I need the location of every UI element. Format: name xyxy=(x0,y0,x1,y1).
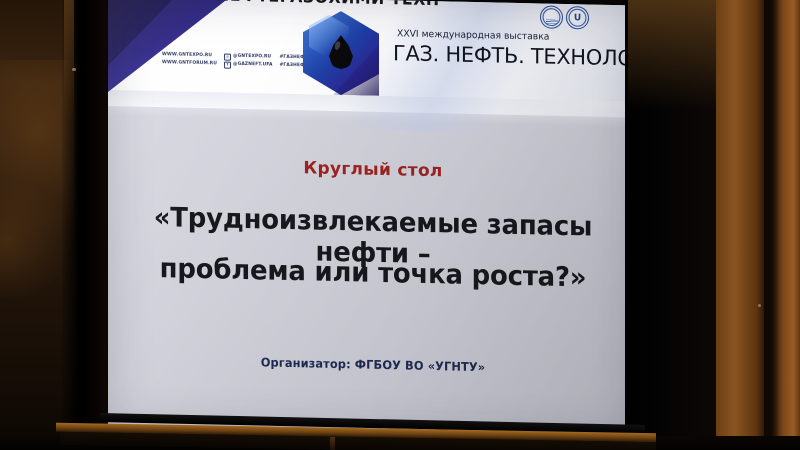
certification-seal-left xyxy=(540,5,563,29)
left-wall-glow xyxy=(0,180,70,300)
conference-room-scene: НЕФТЕГАЗОХИМИ ТЕХН WWW.GNTEXPO.RU WWW.GN… xyxy=(0,0,800,450)
right-dark-wall-highlight xyxy=(628,0,718,110)
wall-screw xyxy=(758,304,761,307)
certification-seal-right: U xyxy=(566,6,589,30)
left-pillar-highlight xyxy=(64,0,74,300)
instagram-icon: ◎ xyxy=(224,53,231,60)
seal-left-lines xyxy=(546,20,558,24)
social-row-2: f @GAZNEFT.UFA xyxy=(224,61,273,70)
website-2: WWW.GNTFORUM.RU xyxy=(162,59,217,68)
oil-drop-hexagon-icon xyxy=(303,10,379,96)
wall-speck xyxy=(72,68,76,71)
projection-screen: НЕФТЕГАЗОХИМИ ТЕХН WWW.GNTEXPO.RU WWW.GN… xyxy=(108,0,638,442)
screen-stand xyxy=(330,437,335,450)
website-row-2: WWW.GNTFORUM.RU xyxy=(162,59,217,68)
contact-social: ◎ @GNTEXPO.RU f @GAZNEFT.UFA xyxy=(224,53,273,70)
seal-right-mark: U xyxy=(574,13,581,23)
slide-canvas: НЕФТЕГАЗОХИМИ ТЕХН WWW.GNTEXPO.RU WWW.GN… xyxy=(108,0,638,442)
social-handle-2: @GAZNEFT.UFA xyxy=(233,61,273,70)
slide-organizer: Организатор: ФГБОУ ВО «УГНТУ» xyxy=(121,352,625,377)
right-wood-panel-seam xyxy=(764,0,778,450)
right-wood-panel xyxy=(716,0,800,450)
facebook-icon: f xyxy=(224,61,231,68)
slide-eyebrow: Круглый стол xyxy=(108,154,638,186)
contact-websites: WWW.GNTEXPO.RU WWW.GNTFORUM.RU xyxy=(162,51,217,68)
